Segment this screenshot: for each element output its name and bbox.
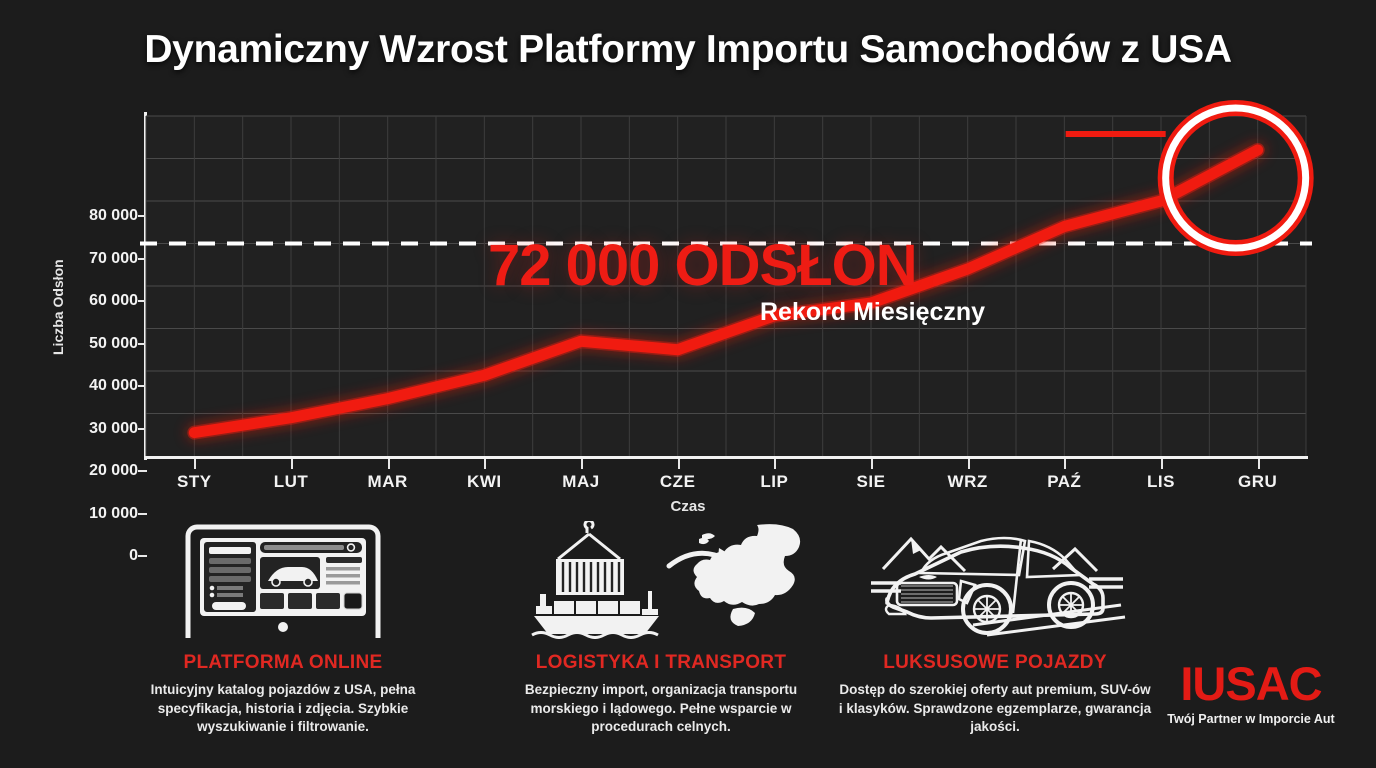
y-axis-label: Liczba Odsłon	[50, 259, 66, 355]
cargo-ship-europe-icon	[496, 520, 826, 640]
feature-title: PLATFORMA ONLINE	[118, 652, 448, 674]
x-tick-mark	[194, 459, 196, 469]
feature-title: LUKSUSOWE POJAZDY	[830, 652, 1160, 674]
feature-logistyka-transport: LOGISTYKA I TRANSPORT Bezpieczny import,…	[496, 520, 826, 737]
brand-logo: IUSAC Twój Partner w Imporcie Aut	[1146, 660, 1356, 726]
x-tick-mark	[291, 459, 293, 469]
feature-luksusowe-pojazdy: LUKSUSOWE POJAZDY Dostęp do szerokiej of…	[830, 520, 1160, 737]
x-tick-mark	[1161, 459, 1163, 469]
x-tick-mark	[678, 459, 680, 469]
feature-platforma-online: PLATFORMA ONLINE Intuicyjny katalog poja…	[118, 520, 448, 737]
infographic-root: Dynamiczny Wzrost Platformy Importu Samo…	[0, 0, 1376, 768]
x-tick-mark	[388, 459, 390, 469]
feature-description: Bezpieczny import, organizacja transport…	[496, 681, 826, 737]
x-tick-mark	[1258, 459, 1260, 469]
monitor-platform-icon	[118, 520, 448, 640]
x-axis-line	[144, 456, 1308, 459]
x-tick-mark	[871, 459, 873, 469]
x-axis-label: Czas	[0, 498, 1376, 515]
y-tick-label: 20 000	[18, 462, 138, 480]
feature-title: LOGISTYKA I TRANSPORT	[496, 652, 826, 674]
y-tick-label: 50 000	[18, 335, 138, 353]
y-tick-label: 70 000	[18, 250, 138, 268]
logo-tagline: Twój Partner w Imporcie Aut	[1146, 712, 1356, 726]
x-tick-mark	[581, 459, 583, 469]
chart-container: 010 00020 00030 00040 00050 00060 00070 …	[0, 100, 1376, 520]
x-tick-mark	[484, 459, 486, 469]
y-tick-label: 80 000	[18, 207, 138, 225]
y-tick-label: 30 000	[18, 420, 138, 438]
x-tick-mark	[968, 459, 970, 469]
y-tick-label: 40 000	[18, 377, 138, 395]
x-tick-mark	[774, 459, 776, 469]
logo-wordmark: IUSAC	[1146, 660, 1356, 707]
feature-description: Intuicyjny katalog pojazdów z USA, pełna…	[118, 681, 448, 737]
feature-description: Dostęp do szerokiej oferty aut premium, …	[830, 681, 1160, 737]
callout-subtitle: Rekord Miesięczny	[760, 298, 985, 327]
page-title: Dynamiczny Wzrost Platformy Importu Samo…	[0, 28, 1376, 72]
callout-value: 72 000 ODSŁON	[488, 232, 917, 299]
luxury-suv-icon	[830, 520, 1160, 640]
x-tick-mark	[1064, 459, 1066, 469]
x-tick-label-gru: GRU	[1198, 472, 1318, 492]
highlight-circle-annotation	[1166, 108, 1306, 248]
y-tick-label: 60 000	[18, 292, 138, 310]
